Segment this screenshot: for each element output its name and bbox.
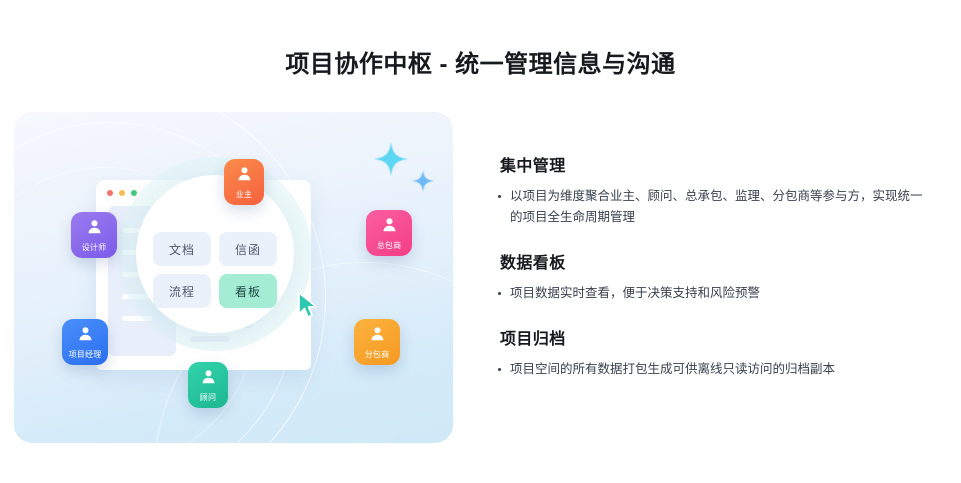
feature-bullet: 项目空间的所有数据打包生成可供离线只读访问的归档副本 [494, 359, 934, 380]
feature-list: 集中管理 以项目为维度聚合业主、顾问、总承包、监理、分包商等参与方，实现统一的项… [494, 152, 934, 380]
feature-title: 项目归档 [500, 325, 934, 349]
hub-tile-grid: 文档信函流程看板 [153, 232, 277, 308]
feature-bullet: 项目数据实时查看，便于决策支持和风险预警 [494, 283, 934, 304]
role-badge-label: 顾问 [200, 393, 216, 402]
hub-tile-2[interactable]: 流程 [153, 274, 211, 308]
feature-title: 集中管理 [500, 152, 934, 176]
feature-item: 项目归档 项目空间的所有数据打包生成可供离线只读访问的归档副本 [494, 325, 934, 380]
yellow-dot-icon [119, 190, 125, 196]
role-badge-label: 设计师 [82, 243, 107, 252]
role-badge-2[interactable]: 总包商 [366, 210, 412, 256]
feature-item: 数据看板 项目数据实时查看，便于决策支持和风险预警 [494, 249, 934, 304]
hub-tile-3[interactable]: 看板 [219, 274, 277, 308]
role-badge-4[interactable]: 分包商 [354, 319, 400, 365]
role-badge-3[interactable]: 项目经理 [62, 319, 108, 365]
green-dot-icon [131, 190, 137, 196]
role-badge-5[interactable]: 顾问 [188, 362, 228, 408]
page-title: 项目协作中枢 - 统一管理信息与沟通 [0, 48, 961, 82]
sparkle-small-icon [412, 170, 434, 192]
sparkle-large-icon [374, 142, 408, 176]
role-badge-1[interactable]: 设计师 [71, 212, 117, 258]
feature-bullet: 以项目为维度聚合业主、顾问、总承包、监理、分包商等参与方，实现统一的项目全生命周… [494, 186, 934, 228]
person-icon [381, 216, 398, 240]
content-row: 文档信函流程看板 业主设计师总包商项目经理分包商顾问 集中管理 以项目为维度聚合… [0, 112, 961, 452]
hub-tile-1[interactable]: 信函 [219, 232, 277, 266]
illustration-panel: 文档信函流程看板 业主设计师总包商项目经理分包商顾问 [14, 112, 453, 443]
role-badge-0[interactable]: 业主 [224, 159, 264, 205]
person-icon [200, 368, 217, 392]
role-badge-label: 分包商 [365, 350, 390, 359]
hub-tile-0[interactable]: 文档 [153, 232, 211, 266]
role-badge-label: 项目经理 [69, 350, 102, 359]
person-icon [86, 218, 103, 242]
person-icon [369, 325, 386, 349]
window-traffic-lights [107, 190, 137, 196]
cursor-pointer-icon [297, 292, 319, 318]
red-dot-icon [107, 190, 113, 196]
role-badge-label: 总包商 [377, 241, 402, 250]
person-icon [236, 165, 253, 189]
feature-title: 数据看板 [500, 249, 934, 273]
feature-item: 集中管理 以项目为维度聚合业主、顾问、总承包、监理、分包商等参与方，实现统一的项… [494, 152, 934, 228]
role-badge-label: 业主 [236, 190, 252, 199]
person-icon [77, 325, 94, 349]
